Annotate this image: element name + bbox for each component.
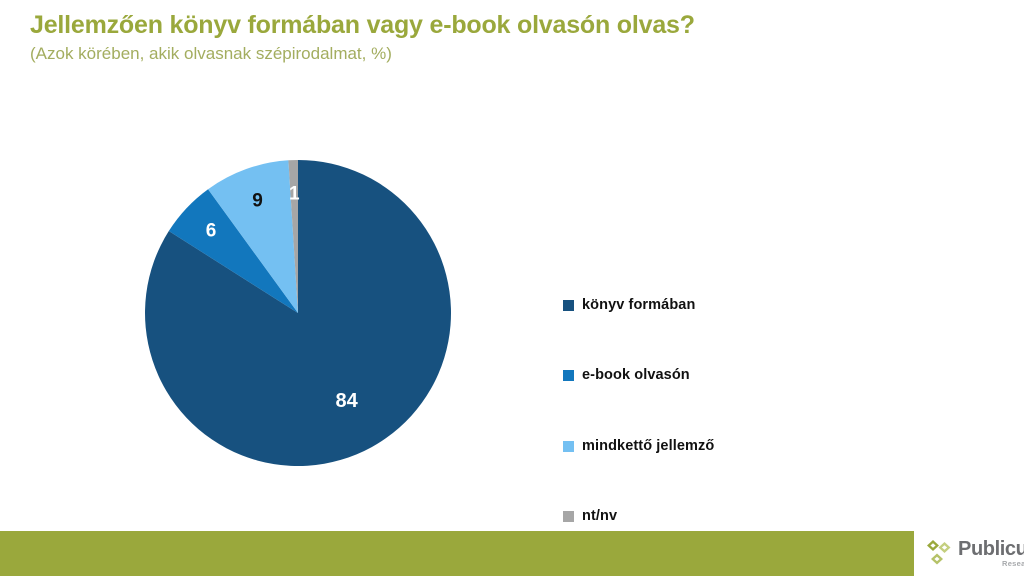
legend-label-konyv-formaban: könyv formában	[582, 297, 695, 313]
logo-name: Publicus	[958, 539, 1024, 559]
logo-text: Publicus Research	[958, 539, 1024, 568]
page-title: Jellemzően könyv formában vagy e-book ol…	[30, 10, 890, 40]
slide: Jellemzően könyv formában vagy e-book ol…	[0, 0, 1024, 576]
chart-area: 84691 könyv formában e-book olvasón mind…	[0, 96, 1024, 516]
footer-bar	[0, 531, 914, 576]
legend-swatch-mindketto-jellemzo	[563, 441, 574, 452]
pie-chart: 84691	[145, 160, 451, 466]
legend-swatch-konyv-formaban	[563, 300, 574, 311]
legend-label-e-book-olvason: e-book olvasón	[582, 367, 690, 383]
chart-legend: könyv formában e-book olvasón mindkettő …	[563, 192, 863, 542]
legend-item-e-book-olvason[interactable]: e-book olvasón	[563, 366, 690, 384]
logo-subtitle: Research	[958, 560, 1024, 568]
legend-item-konyv-formaban[interactable]: könyv formában	[563, 296, 695, 314]
page-subtitle: (Azok körében, akik olvasnak szépirodalm…	[30, 43, 890, 65]
pie-svg	[145, 160, 451, 466]
legend-item-nt-nv[interactable]: nt/nv	[563, 507, 617, 525]
legend-item-mindketto-jellemzo[interactable]: mindkettő jellemző	[563, 437, 714, 455]
legend-label-nt-nv: nt/nv	[582, 508, 617, 524]
legend-label-mindketto-jellemzo: mindkettő jellemző	[582, 438, 714, 454]
legend-swatch-nt-nv	[563, 511, 574, 522]
diamond-logo-icon	[925, 538, 955, 568]
legend-swatch-e-book-olvason	[563, 370, 574, 381]
publicus-logo: Publicus Research	[925, 533, 1024, 573]
title-block: Jellemzően könyv formában vagy e-book ol…	[30, 10, 890, 65]
